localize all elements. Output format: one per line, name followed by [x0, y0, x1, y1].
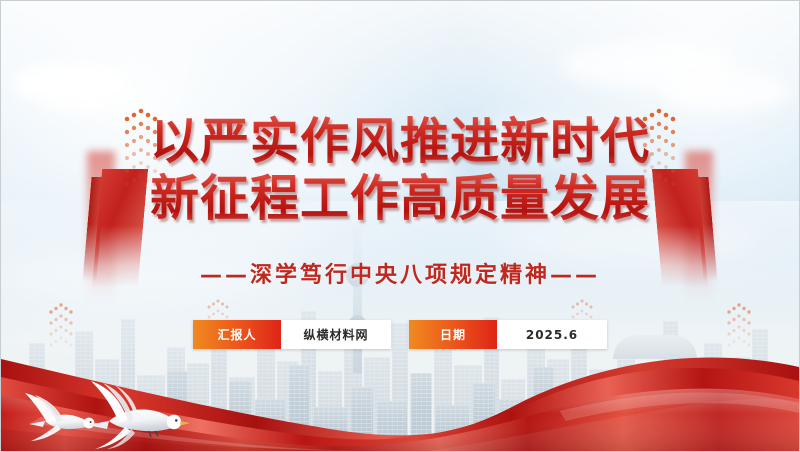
- slide-title: 以严实作风推进新时代 新征程工作高质量发展: [1, 113, 799, 227]
- slide-subtitle: ——深学笃行中央八项规定精神——: [1, 257, 799, 289]
- white-dove-right: [79, 379, 195, 449]
- cloud: [41, 83, 121, 113]
- title-line-1: 以严实作风推进新时代: [1, 113, 799, 170]
- title-line-2: 新征程工作高质量发展: [1, 170, 799, 227]
- presentation-cover-slide: 以严实作风推进新时代 新征程工作高质量发展 ——深学笃行中央八项规定精神—— 汇…: [0, 0, 800, 452]
